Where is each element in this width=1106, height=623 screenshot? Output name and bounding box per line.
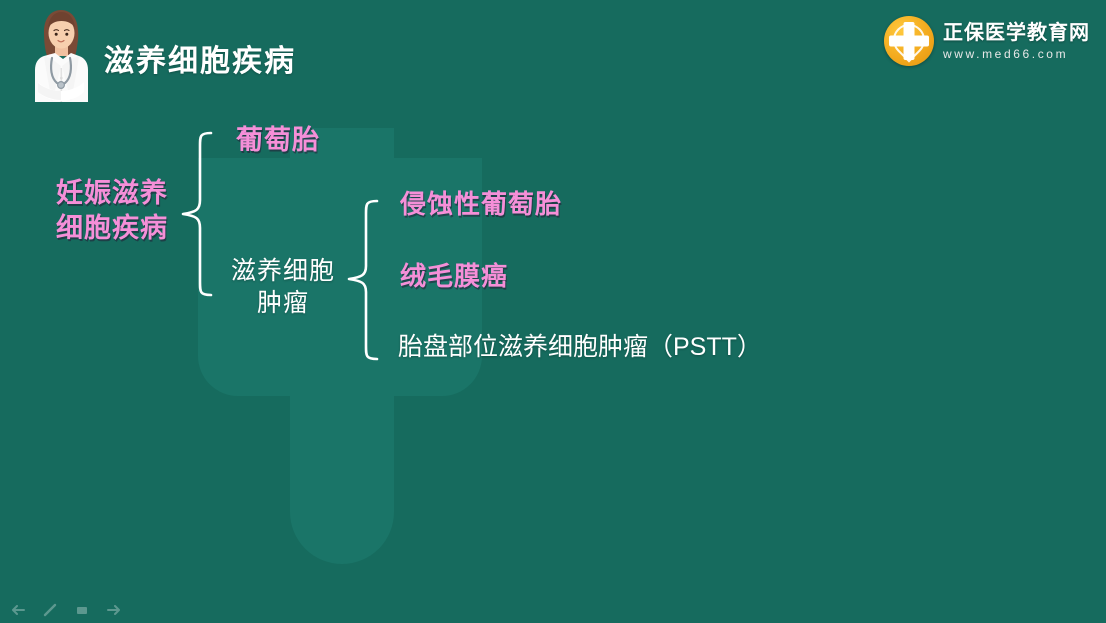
brand-name: 正保医学教育网 <box>943 22 1090 44</box>
node-hydatidiform-mole: 葡萄胎 <box>236 123 320 158</box>
doctor-avatar <box>22 6 100 102</box>
rectangle-icon[interactable] <box>74 602 90 618</box>
node-tumor-line2: 肿瘤 <box>220 287 346 319</box>
node-root-line1: 妊娠滋养 <box>56 176 168 211</box>
node-choriocarcinoma: 绒毛膜癌 <box>400 260 508 293</box>
brace-level-2 <box>344 196 380 364</box>
page-title: 滋养细胞疾病 <box>104 36 296 80</box>
medical-cross-icon <box>884 16 934 66</box>
brand-logo: 正保医学教育网 www.med66.com <box>884 12 1094 70</box>
pen-icon[interactable] <box>42 602 58 618</box>
brace-level-1 <box>178 128 214 300</box>
node-invasive-mole: 侵蚀性葡萄胎 <box>400 188 562 221</box>
brand-url: www.med66.com <box>943 47 1090 61</box>
back-arrow-icon[interactable] <box>10 602 26 618</box>
node-root: 妊娠滋养 细胞疾病 <box>56 176 168 245</box>
node-trophoblastic-tumor: 滋养细胞 肿瘤 <box>220 255 346 319</box>
slide-canvas: 滋养细胞疾病 正保医学教育网 www.med66.com 妊娠滋养 细胞疾病 <box>0 0 1106 623</box>
forward-arrow-icon[interactable] <box>106 602 122 618</box>
node-pstt: 胎盘部位滋养细胞肿瘤（PSTT） <box>398 331 762 363</box>
slide-header: 滋养细胞疾病 正保医学教育网 www.med66.com <box>0 0 1106 100</box>
annotation-toolbar[interactable] <box>0 597 1106 623</box>
node-root-line2: 细胞疾病 <box>56 211 168 246</box>
node-tumor-line1: 滋养细胞 <box>220 255 346 287</box>
